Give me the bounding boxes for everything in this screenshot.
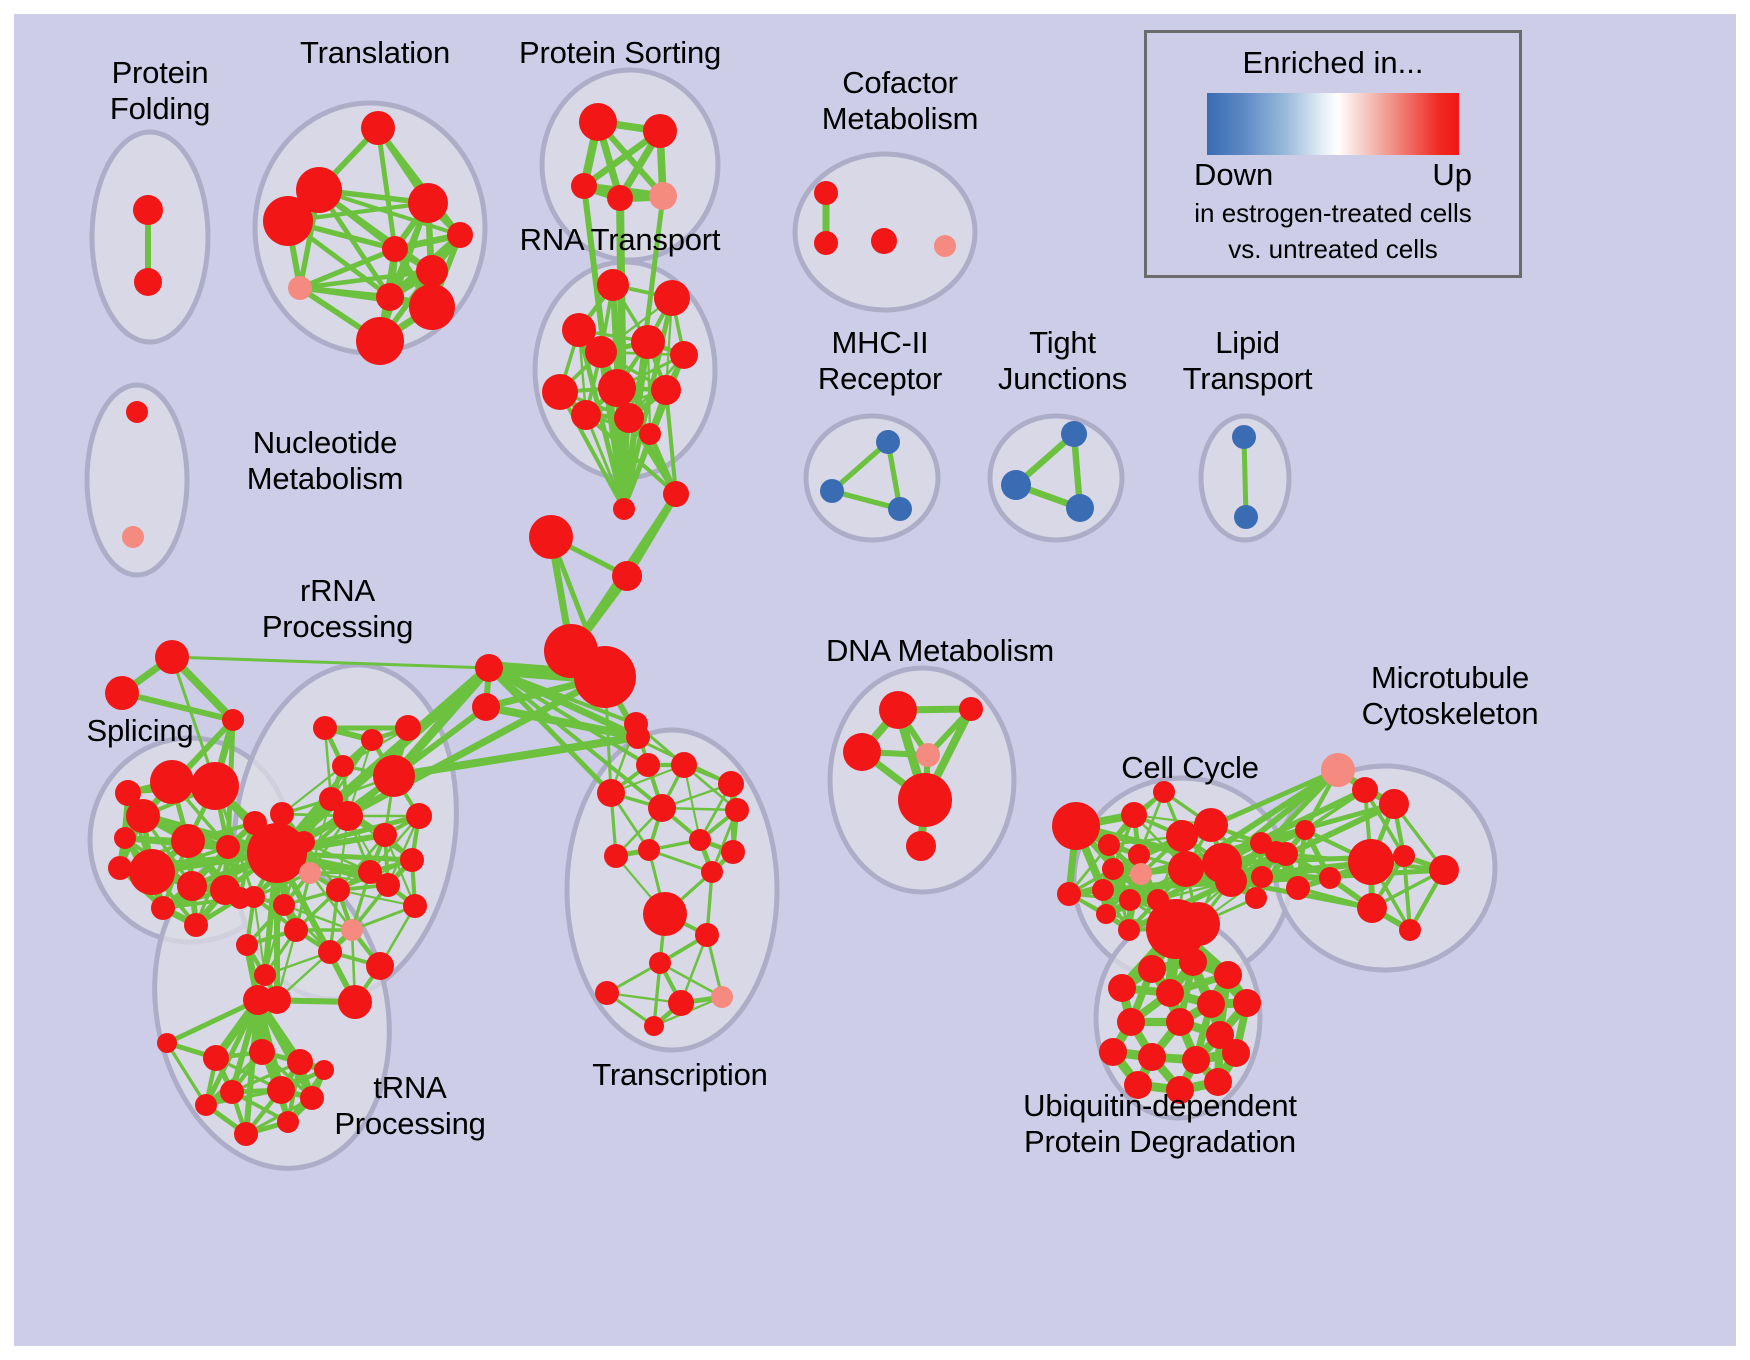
network-node[interactable] [843, 733, 881, 771]
network-node[interactable] [579, 103, 617, 141]
network-node[interactable] [649, 182, 677, 210]
network-node[interactable] [1286, 876, 1310, 900]
network-node[interactable] [876, 430, 900, 454]
cluster-label-transcription: Transcription [555, 1057, 805, 1093]
network-node[interactable] [1118, 919, 1140, 941]
network-node[interactable] [1379, 789, 1409, 819]
legend-high-label: Up [1432, 157, 1472, 193]
network-node[interactable] [701, 861, 723, 883]
legend-caption-line2: vs. untreated cells [1147, 233, 1519, 265]
network-node[interactable] [888, 497, 912, 521]
network-node[interactable] [649, 952, 671, 974]
legend-color-gradient-bar [1207, 93, 1459, 155]
network-node[interactable] [1166, 820, 1198, 852]
network-node[interactable] [585, 336, 617, 368]
network-node[interactable] [814, 181, 838, 205]
network-node[interactable] [959, 697, 983, 721]
legend-box: Enriched in... Down Up in estrogen-treat… [1144, 30, 1522, 278]
network-node[interactable] [1352, 777, 1378, 803]
network-node[interactable] [177, 871, 207, 901]
network-node[interactable] [263, 196, 313, 246]
network-node[interactable] [1182, 1046, 1210, 1074]
network-node[interactable] [1102, 858, 1124, 880]
network-node[interactable] [1245, 887, 1267, 909]
network-node[interactable] [1057, 882, 1081, 906]
network-node[interactable] [595, 981, 619, 1005]
network-node[interactable] [1357, 893, 1387, 923]
network-node[interactable] [134, 268, 162, 296]
network-node[interactable] [1232, 425, 1256, 449]
network-node[interactable] [122, 526, 144, 548]
network-node[interactable] [898, 773, 952, 827]
network-node[interactable] [820, 479, 844, 503]
network-node[interactable] [356, 317, 404, 365]
network-node[interactable] [195, 1094, 217, 1116]
network-node[interactable] [288, 276, 312, 300]
network-node[interactable] [1295, 820, 1315, 840]
network-node[interactable] [243, 886, 265, 908]
network-node[interactable] [721, 840, 745, 864]
network-node[interactable] [408, 183, 448, 223]
cluster-label-protein-folding: Protein Folding [50, 55, 270, 127]
network-node[interactable] [313, 716, 337, 740]
network-node[interactable] [879, 691, 917, 729]
network-node[interactable] [1429, 855, 1459, 885]
network-node[interactable] [341, 919, 363, 941]
network-node[interactable] [1222, 1039, 1250, 1067]
network-node[interactable] [475, 654, 503, 682]
network-node[interactable] [247, 823, 307, 883]
cluster-label-nucleotide-metabolism: Nucleotide Metabolism [180, 425, 470, 497]
network-node[interactable] [614, 403, 644, 433]
network-node[interactable] [361, 729, 383, 751]
network-node[interactable] [157, 1033, 177, 1053]
network-node[interactable] [689, 829, 711, 851]
network-node[interactable] [644, 1016, 664, 1036]
network-node[interactable] [542, 374, 578, 410]
network-node[interactable] [1092, 879, 1114, 901]
network-node[interactable] [1197, 990, 1225, 1018]
network-node[interactable] [1130, 863, 1152, 885]
network-node[interactable] [671, 752, 697, 778]
legend-caption-line1: in estrogen-treated cells [1147, 197, 1519, 229]
network-node[interactable] [105, 676, 139, 710]
network-node[interactable] [1001, 470, 1031, 500]
cluster-label-protein-sorting: Protein Sorting [470, 35, 770, 71]
network-node[interactable] [1319, 867, 1341, 889]
legend-title: Enriched in... [1147, 45, 1519, 81]
network-node[interactable] [636, 753, 660, 777]
network-node[interactable] [409, 284, 455, 330]
cluster-label-trna-processing: tRNA Processing [290, 1070, 530, 1142]
network-node[interactable] [1066, 494, 1094, 522]
network-node[interactable] [612, 561, 642, 591]
network-node[interactable] [597, 779, 625, 807]
network-node[interactable] [1052, 802, 1100, 850]
network-node[interactable] [906, 831, 936, 861]
network-node[interactable] [472, 693, 500, 721]
network-node[interactable] [1393, 845, 1415, 867]
network-node[interactable] [249, 1039, 275, 1065]
network-node[interactable] [376, 873, 400, 897]
network-node[interactable] [1099, 1038, 1127, 1066]
network-node[interactable] [108, 856, 132, 880]
network-node[interactable] [400, 848, 424, 872]
network-node[interactable] [220, 1080, 244, 1104]
network-node[interactable] [1321, 753, 1355, 787]
network-node[interactable] [299, 862, 321, 884]
network-node[interactable] [115, 780, 141, 806]
cluster-label-lipid-transport: Lipid Transport [1140, 325, 1355, 397]
network-node[interactable] [126, 401, 148, 423]
network-node[interactable] [1179, 948, 1207, 976]
network-node[interactable] [631, 325, 665, 359]
network-node[interactable] [1399, 919, 1421, 941]
network-node[interactable] [151, 896, 175, 920]
network-node[interactable] [395, 715, 421, 741]
network-node[interactable] [234, 1122, 258, 1146]
enrichment-map-figure: Protein Folding Translation Protein Sort… [0, 0, 1750, 1360]
network-node[interactable] [598, 369, 636, 407]
network-node[interactable] [1233, 989, 1261, 1017]
legend-low-label: Down [1194, 157, 1273, 193]
network-node[interactable] [376, 283, 404, 311]
network-node[interactable] [332, 755, 354, 777]
network-node[interactable] [613, 498, 635, 520]
network-node[interactable] [604, 844, 628, 868]
network-node[interactable] [934, 235, 956, 257]
network-node[interactable] [607, 185, 633, 211]
network-node[interactable] [571, 400, 601, 430]
network-node[interactable] [1214, 961, 1242, 989]
network-node[interactable] [643, 114, 677, 148]
network-node[interactable] [416, 255, 448, 287]
cluster-label-cell-cycle: Cell Cycle [1075, 750, 1305, 786]
network-node[interactable] [333, 801, 363, 831]
network-node[interactable] [648, 794, 676, 822]
network-node[interactable] [254, 964, 276, 986]
network-node[interactable] [916, 743, 940, 767]
network-edge [1244, 437, 1246, 517]
network-node[interactable] [406, 803, 432, 829]
cluster-label-cofactor-metabolism: Cofactor Metabolism [760, 65, 1040, 137]
network-node[interactable] [373, 755, 415, 797]
network-node[interactable] [171, 824, 205, 858]
network-node[interactable] [191, 762, 239, 810]
network-node[interactable] [638, 839, 660, 861]
network-node[interactable] [1251, 866, 1273, 888]
cluster-label-rna-transport: RNA Transport [470, 222, 770, 258]
network-node[interactable] [133, 195, 163, 225]
network-node[interactable] [668, 990, 694, 1016]
cluster-label-splicing: Splicing [45, 713, 235, 749]
network-node[interactable] [639, 423, 661, 445]
network-node[interactable] [814, 231, 838, 255]
network-node[interactable] [624, 712, 648, 736]
network-node[interactable] [326, 878, 350, 902]
cluster-label-ubiquitin-degradation: Ubiquitin-dependent Protein Degradation [975, 1088, 1345, 1160]
network-node[interactable] [695, 923, 719, 947]
network-node[interactable] [236, 934, 258, 956]
network-node[interactable] [129, 849, 175, 895]
network-node[interactable] [293, 831, 315, 853]
network-node[interactable] [1121, 802, 1147, 828]
network-node[interactable] [361, 111, 395, 145]
cluster-label-microtubule-cytoskeleton: Microtubule Cytoskeleton [1295, 660, 1605, 732]
network-node[interactable] [1166, 1008, 1194, 1036]
network-node[interactable] [1098, 834, 1120, 856]
network-node[interactable] [203, 1045, 229, 1071]
network-node[interactable] [663, 481, 689, 507]
network-node[interactable] [725, 798, 749, 822]
network-node[interactable] [155, 640, 189, 674]
network-node[interactable] [1215, 865, 1247, 897]
network-node[interactable] [654, 280, 690, 316]
cluster-label-tight-junctions: Tight Junctions [955, 325, 1170, 397]
cluster-label-dna-metabolism: DNA Metabolism [790, 633, 1090, 669]
network-node[interactable] [318, 940, 342, 964]
network-node[interactable] [338, 985, 372, 1019]
network-node[interactable] [1117, 1008, 1145, 1036]
network-node[interactable] [711, 986, 733, 1008]
network-node[interactable] [670, 341, 698, 369]
network-node[interactable] [1119, 889, 1141, 911]
network-node[interactable] [1156, 979, 1184, 1007]
network-node[interactable] [1061, 421, 1087, 447]
network-node[interactable] [1108, 974, 1136, 1002]
network-node[interactable] [643, 892, 687, 936]
network-node[interactable] [871, 228, 897, 254]
network-node[interactable] [1096, 904, 1116, 924]
network-node[interactable] [1194, 808, 1228, 842]
network-node[interactable] [270, 802, 294, 826]
network-node[interactable] [273, 894, 295, 916]
network-node[interactable] [1348, 839, 1394, 885]
network-node[interactable] [284, 918, 308, 942]
network-node[interactable] [1234, 505, 1258, 529]
network-node[interactable] [366, 952, 394, 980]
network-node[interactable] [1138, 955, 1166, 983]
network-node[interactable] [651, 375, 681, 405]
network-node[interactable] [150, 760, 194, 804]
network-node[interactable] [184, 913, 208, 937]
network-node[interactable] [403, 894, 427, 918]
network-node[interactable] [1274, 842, 1298, 866]
network-node[interactable] [114, 827, 136, 849]
network-node[interactable] [574, 646, 636, 708]
cluster-ellipse-mhc-ii-receptor [806, 416, 938, 540]
network-node[interactable] [1138, 1043, 1166, 1071]
network-node[interactable] [597, 269, 629, 301]
network-node[interactable] [1168, 851, 1204, 887]
network-node[interactable] [529, 515, 573, 559]
network-node[interactable] [718, 771, 744, 797]
network-node[interactable] [373, 823, 397, 847]
cluster-label-rrna-processing: rRNA Processing [225, 573, 450, 645]
network-node[interactable] [216, 835, 240, 859]
network-node[interactable] [243, 985, 273, 1015]
network-node[interactable] [1128, 844, 1150, 866]
network-node[interactable] [382, 236, 408, 262]
network-node[interactable] [571, 173, 597, 199]
network-node[interactable] [1176, 902, 1220, 946]
